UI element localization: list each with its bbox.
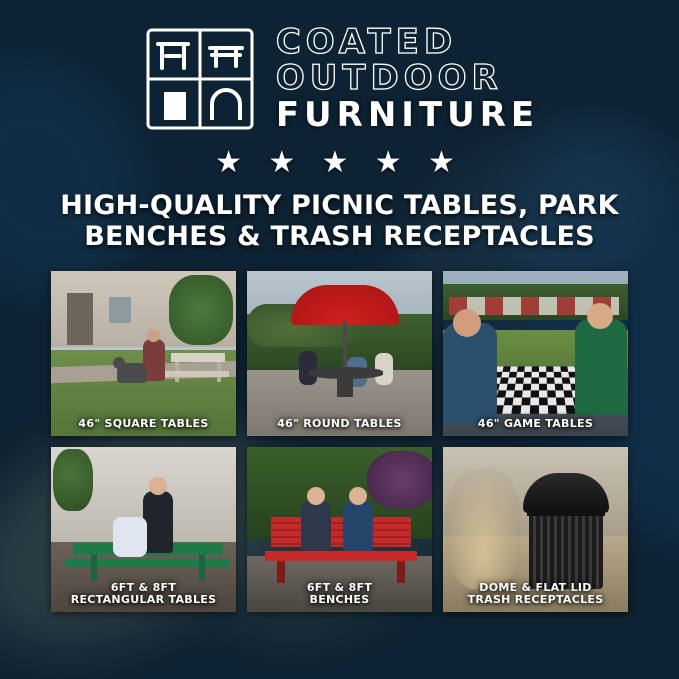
product-card-benches[interactable]: 6FT & 8FT BENCHES — [247, 447, 432, 612]
product-caption-line-2: RECTANGULAR TABLES — [54, 594, 233, 606]
brand-name-line-2: OUTDOOR — [276, 61, 539, 96]
brand-name: COATED OUTDOOR FURNITURE — [276, 25, 539, 133]
product-card-rectangular-tables[interactable]: 6FT & 8FT RECTANGULAR TABLES — [51, 447, 236, 612]
headline: HIGH-QUALITY PICNIC TABLES, PARK BENCHES… — [26, 190, 653, 253]
product-caption: 46" GAME TABLES — [443, 414, 628, 435]
product-card-round-tables[interactable]: 46" ROUND TABLES — [247, 271, 432, 436]
product-caption: 6FT & 8FT RECTANGULAR TABLES — [51, 578, 236, 612]
product-photo — [51, 271, 236, 436]
product-grid: 46" SQUARE TABLES 46" ROUND TAB — [0, 271, 679, 612]
brand-logo: COATED OUTDOOR FURNITURE — [0, 0, 679, 134]
product-caption: 6FT & 8FT BENCHES — [247, 578, 432, 612]
product-card-game-tables[interactable]: 46" GAME TABLES — [443, 271, 628, 436]
product-photo — [443, 271, 628, 436]
brand-name-line-3: FURNITURE — [276, 98, 539, 133]
product-card-square-tables[interactable]: 46" SQUARE TABLES — [51, 271, 236, 436]
star-rating-icon: ★ ★ ★ ★ ★ — [0, 148, 679, 178]
product-card-trash-receptacles[interactable]: DOME & FLAT LID TRASH RECEPTACLES — [443, 447, 628, 612]
headline-line-1: HIGH-QUALITY PICNIC TABLES, PARK — [26, 190, 653, 221]
headline-line-2: BENCHES & TRASH RECEPTACLES — [26, 221, 653, 252]
product-caption: DOME & FLAT LID TRASH RECEPTACLES — [443, 578, 628, 612]
picnic-table-and-trash-can-logo-icon — [140, 24, 260, 134]
brand-name-line-1: COATED — [276, 25, 539, 60]
product-photo — [247, 271, 432, 436]
product-poster: COATED OUTDOOR FURNITURE ★ ★ ★ ★ ★ HIGH-… — [0, 0, 679, 679]
product-caption-line-2: TRASH RECEPTACLES — [446, 594, 625, 606]
product-caption-line-2: BENCHES — [250, 594, 429, 606]
product-caption: 46" SQUARE TABLES — [51, 414, 236, 435]
product-caption: 46" ROUND TABLES — [247, 414, 432, 435]
